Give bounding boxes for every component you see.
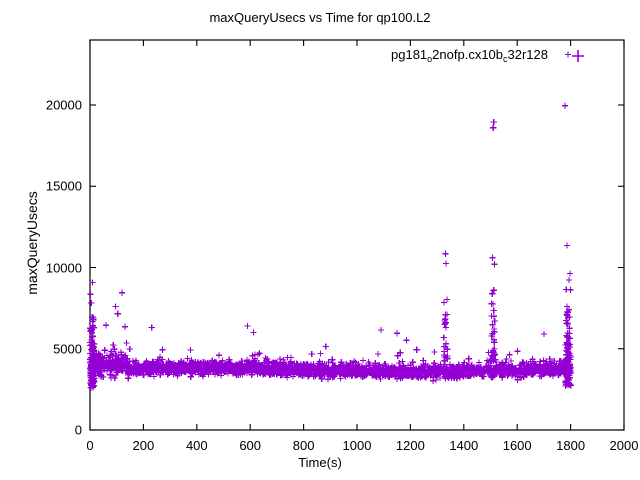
plot-area [0, 0, 640, 480]
chart-canvas: maxQueryUsecs vs Time for qp100.L2 maxQu… [0, 0, 640, 480]
data-point-markers [87, 52, 574, 391]
